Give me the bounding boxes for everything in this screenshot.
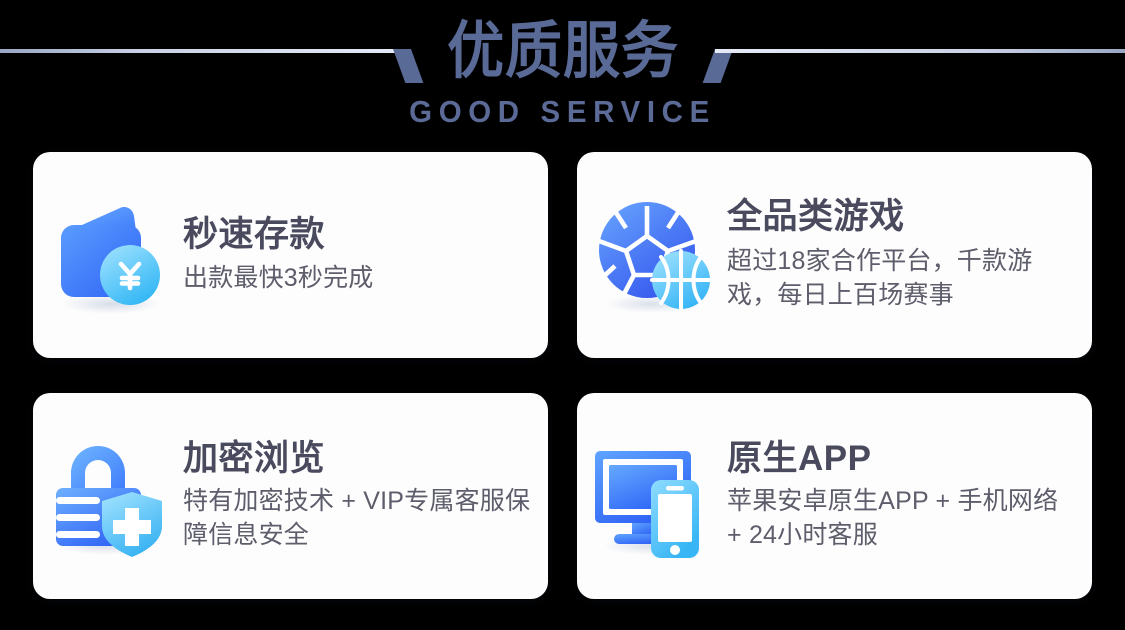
card-text: 加密浏览 特有加密技术 + VIP专属客服保障信息安全 xyxy=(183,439,548,552)
card-text: 原生APP 苹果安卓原生APP + 手机网络 + 24小时客服 xyxy=(727,439,1092,552)
page-subtitle: GOOD SERVICE xyxy=(28,96,1097,127)
feature-card-instant-deposit[interactable]: 秒速存款 出款最快3秒完成 xyxy=(33,152,548,358)
title-row: 优质服务 xyxy=(0,8,1125,94)
card-description: 苹果安卓原生APP + 手机网络 + 24小时客服 xyxy=(727,484,1076,553)
monitor-phone-icon xyxy=(577,433,727,559)
promo-banner: 优质服务 GOOD SERVICE xyxy=(0,0,1125,630)
card-description: 超过18家合作平台，千款游戏，每日上百场赛事 xyxy=(727,244,1076,313)
card-title: 加密浏览 xyxy=(183,439,532,478)
decorative-line-right xyxy=(715,19,1125,83)
feature-card-native-app[interactable]: 原生APP 苹果安卓原生APP + 手机网络 + 24小时客服 xyxy=(577,393,1092,599)
rule-tick-left xyxy=(393,49,423,83)
card-description: 特有加密技术 + VIP专属客服保障信息安全 xyxy=(183,484,532,553)
feature-card-all-category-games[interactable]: 全品类游戏 超过18家合作平台，千款游戏，每日上百场赛事 xyxy=(577,152,1092,358)
decorative-line-left xyxy=(0,19,411,83)
card-title: 秒速存款 xyxy=(183,215,532,254)
feature-card-encrypted-browsing[interactable]: 加密浏览 特有加密技术 + VIP专属客服保障信息安全 xyxy=(33,393,548,599)
banner-header: 优质服务 GOOD SERVICE xyxy=(0,0,1125,146)
rule-tick-right xyxy=(702,49,732,83)
page-title: 优质服务 xyxy=(423,20,703,82)
wallet-yen-icon xyxy=(33,192,183,318)
card-title: 全品类游戏 xyxy=(727,197,1076,236)
lock-shield-icon xyxy=(33,433,183,559)
rule-bar-left xyxy=(0,49,411,53)
card-description: 出款最快3秒完成 xyxy=(183,261,532,296)
rule-bar-right xyxy=(715,49,1125,53)
card-title: 原生APP xyxy=(727,439,1076,478)
card-text: 秒速存款 出款最快3秒完成 xyxy=(183,215,548,296)
soccer-basketball-icon xyxy=(577,192,727,318)
feature-grid: 秒速存款 出款最快3秒完成 xyxy=(33,152,1092,599)
card-text: 全品类游戏 超过18家合作平台，千款游戏，每日上百场赛事 xyxy=(727,197,1092,312)
